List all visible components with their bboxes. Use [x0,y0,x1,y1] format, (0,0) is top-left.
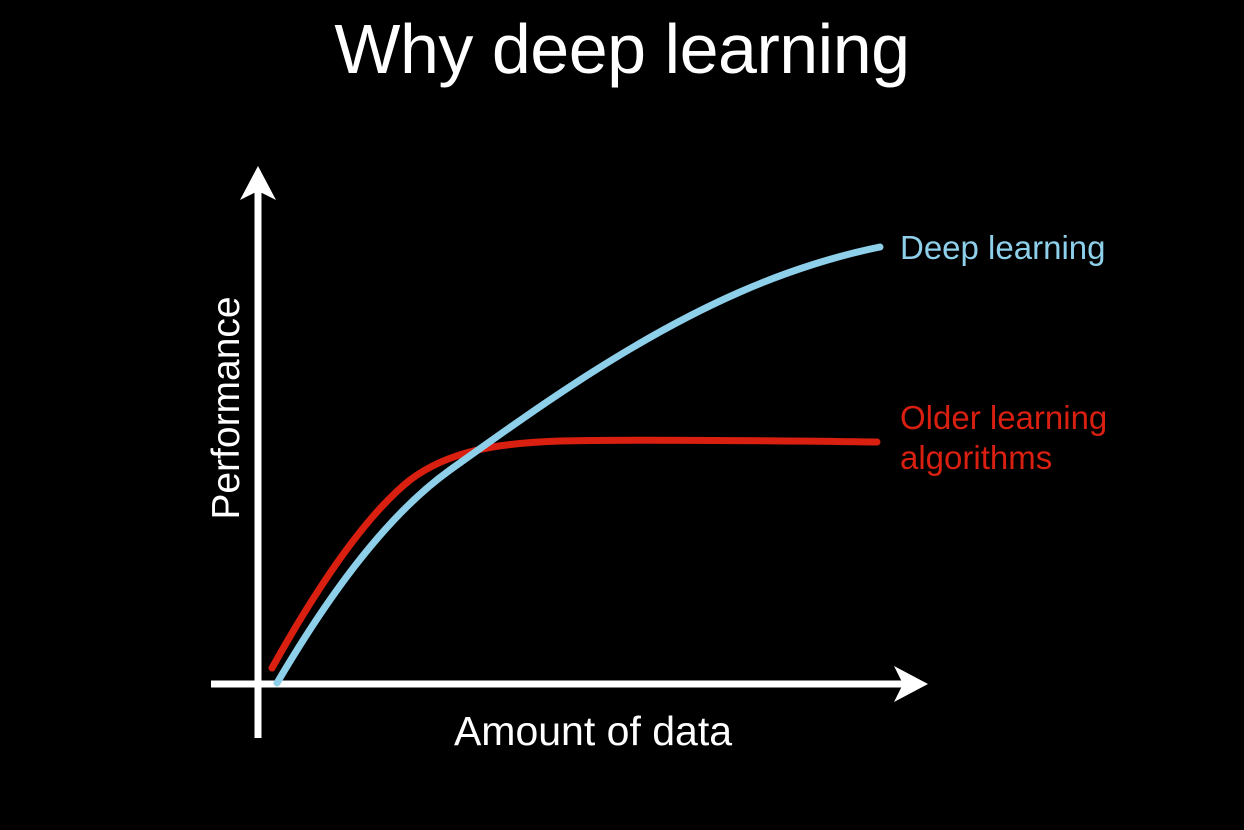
slide-canvas: Why deep learning Performance Amount of … [0,0,1244,830]
y-axis-label: Performance [205,198,249,618]
legend-label-older-algorithms: Older learning algorithms [900,398,1107,479]
legend-label-deep-learning: Deep learning [900,228,1105,268]
x-axis-label: Amount of data [258,708,928,755]
series-line-deep-learning [277,247,880,683]
